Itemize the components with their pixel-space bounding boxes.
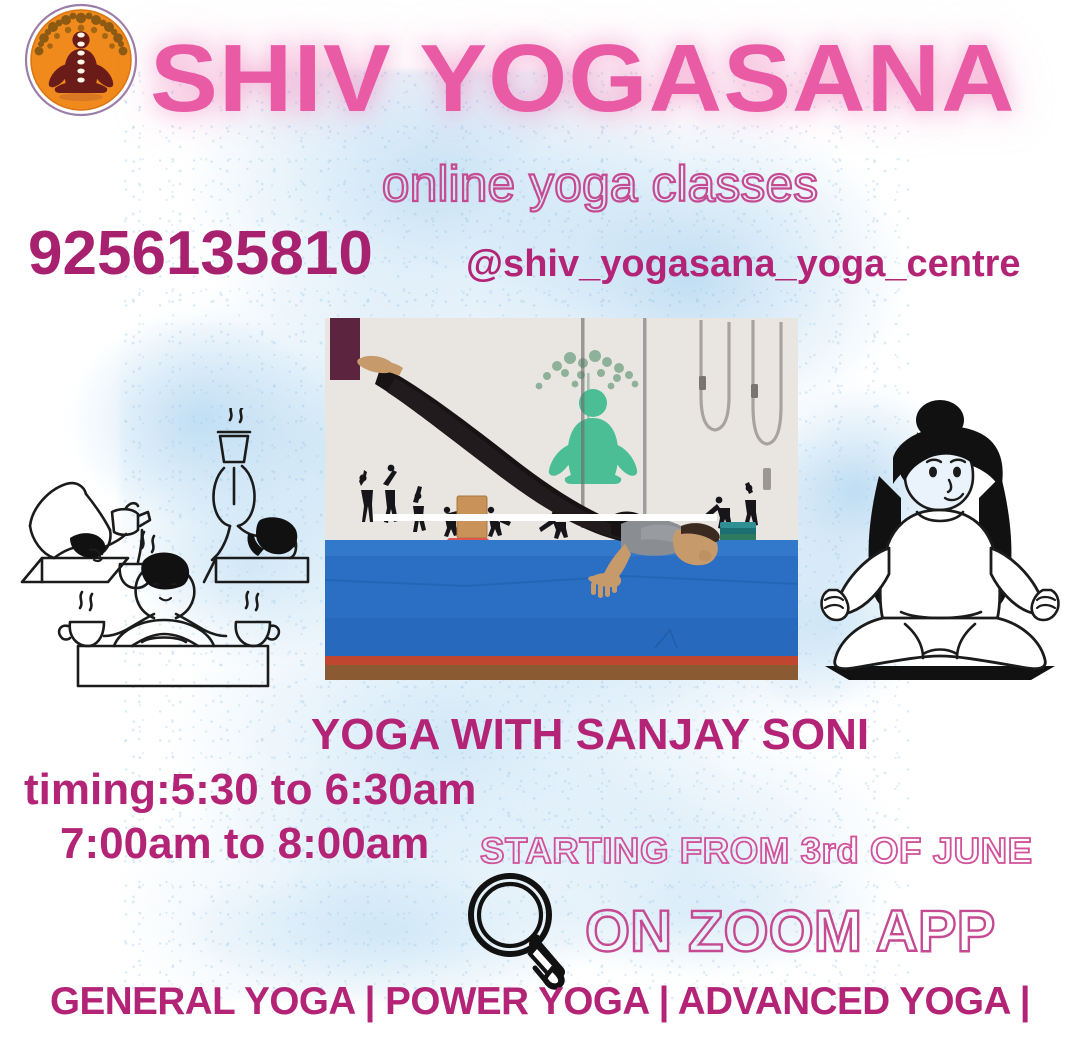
footer-class-types: GENERAL YOGA | POWER YOGA | ADVANCED YOG…	[5, 978, 1074, 1026]
timing-line-2: 7:00am to 8:00am	[60, 817, 429, 871]
yoga-chakra-logo-icon	[22, 2, 140, 120]
meditating-woman-lineart-illustration	[805, 398, 1075, 688]
phone-number[interactable]: 9256135810	[28, 218, 373, 290]
instructor-line: YOGA WITH SANJAY SONI	[240, 708, 940, 762]
poster-canvas: SHIV YOGASANA online yoga classes 925613…	[0, 0, 1080, 1039]
page-title: SHIV YOGASANA	[150, 26, 1080, 136]
magnifying-glass-icon	[455, 868, 585, 992]
platform-line: ON ZOOM APP	[585, 898, 995, 966]
yoga-pose-photo	[325, 318, 798, 680]
yoga-coffee-lineart-illustration	[8, 408, 328, 698]
timing-line-1: timing:5:30 to 6:30am	[24, 763, 476, 817]
subtitle-online-yoga-classes: online yoga classes	[300, 155, 900, 213]
instagram-handle[interactable]: @shiv_yogasana_yoga_centre	[466, 240, 1021, 288]
